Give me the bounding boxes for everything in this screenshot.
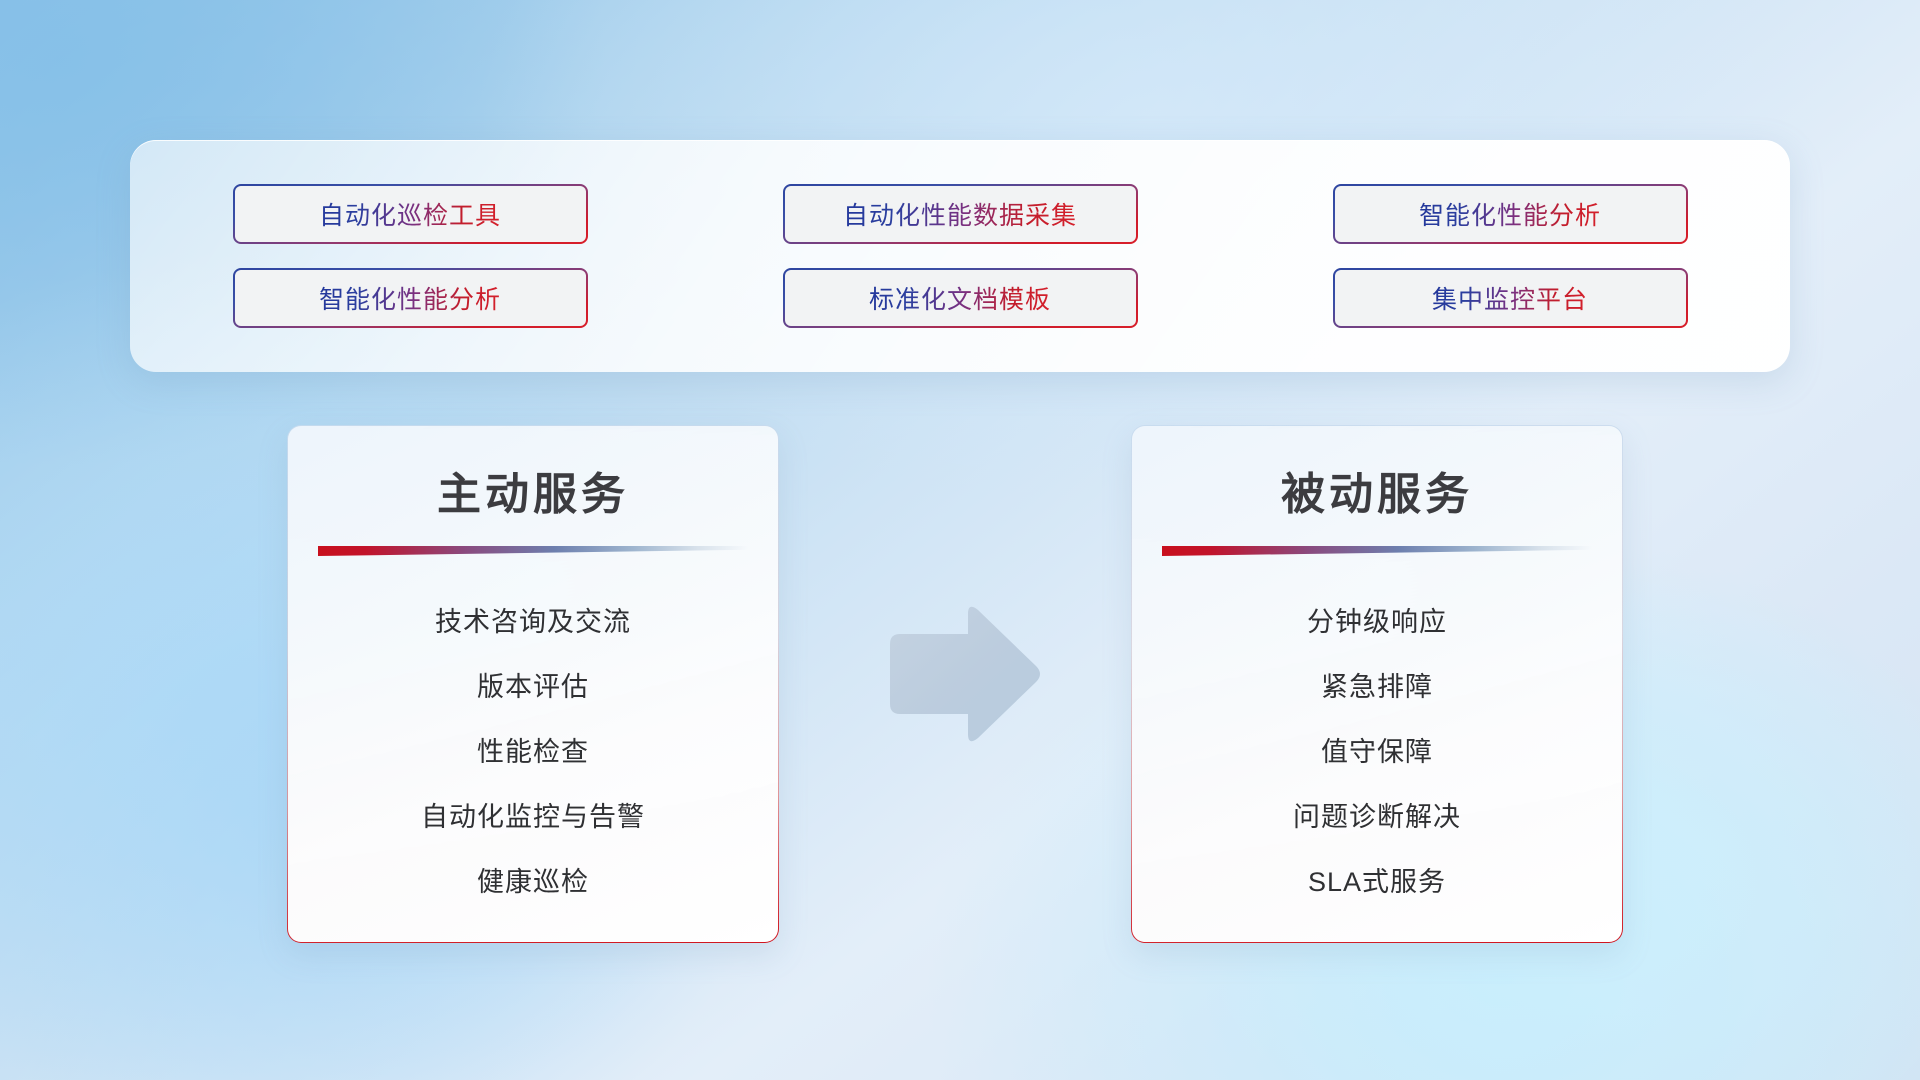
service-card-proactive: 主动服务 技术咨询及交流 版本评估 性能检查 自动化监控与告警 健康巡检: [287, 425, 779, 943]
capability-tag-label: 集中监控平台: [1432, 280, 1588, 316]
capability-tag-1[interactable]: 自动化巡检工具: [233, 184, 588, 244]
title-divider-bar: [1162, 546, 1592, 556]
service-card-reactive: 被动服务 分钟级响应 紧急排障 值守保障 问题诊断解决 SLA式服务: [1131, 425, 1623, 943]
service-card-title: 主动服务: [288, 458, 778, 522]
service-item: 技术咨询及交流: [435, 600, 631, 639]
service-item: 自动化监控与告警: [421, 795, 645, 834]
service-item: 问题诊断解决: [1293, 795, 1461, 834]
capability-tag-label: 标准化文档模板: [869, 280, 1051, 316]
capability-tag-2[interactable]: 自动化性能数据采集: [783, 184, 1138, 244]
capability-tag-label: 智能化性能分析: [319, 280, 501, 316]
service-item: 紧急排障: [1321, 665, 1433, 704]
title-divider: [318, 546, 748, 556]
capability-tag-label: 自动化性能数据采集: [843, 196, 1077, 232]
arrow-right-icon: [880, 602, 1042, 744]
service-card-title: 被动服务: [1132, 458, 1622, 522]
slide-canvas: 自动化巡检工具 自动化性能数据采集 智能化性能分析 智能化性能分析 标准化文档模…: [0, 0, 1920, 1080]
capability-panel: 自动化巡检工具 自动化性能数据采集 智能化性能分析 智能化性能分析 标准化文档模…: [130, 140, 1790, 372]
capability-tag-label: 智能化性能分析: [1419, 196, 1601, 232]
service-item: SLA式服务: [1308, 860, 1446, 899]
service-item: 分钟级响应: [1307, 600, 1447, 639]
capability-tag-3[interactable]: 智能化性能分析: [1333, 184, 1688, 244]
service-item: 健康巡检: [477, 860, 589, 899]
capability-tag-label: 自动化巡检工具: [319, 196, 501, 232]
capability-tag-6[interactable]: 集中监控平台: [1333, 268, 1688, 328]
capability-tag-5[interactable]: 标准化文档模板: [783, 268, 1138, 328]
service-item-list: 分钟级响应 紧急排障 值守保障 问题诊断解决 SLA式服务: [1132, 600, 1622, 899]
capability-tag-grid: 自动化巡检工具 自动化性能数据采集 智能化性能分析 智能化性能分析 标准化文档模…: [233, 184, 1688, 328]
service-item: 值守保障: [1321, 730, 1433, 769]
service-item: 性能检查: [477, 730, 589, 769]
title-divider-bar: [318, 546, 748, 556]
title-divider: [1162, 546, 1592, 556]
capability-tag-4[interactable]: 智能化性能分析: [233, 268, 588, 328]
service-item-list: 技术咨询及交流 版本评估 性能检查 自动化监控与告警 健康巡检: [288, 600, 778, 899]
service-item: 版本评估: [477, 665, 589, 704]
